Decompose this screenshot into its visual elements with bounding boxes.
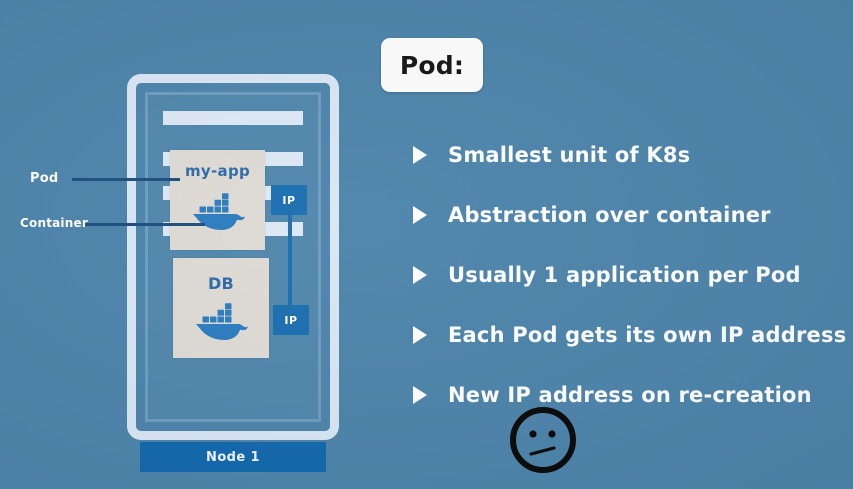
callout-label-pod: Pod [30, 171, 58, 186]
triangle-right-icon [413, 326, 427, 344]
triangle-right-icon [413, 266, 427, 284]
pod-title-box: Pod: [381, 38, 483, 92]
list-item-label: Abstraction over container [448, 203, 771, 227]
pod-outer-frame [127, 74, 339, 440]
triangle-right-icon [413, 146, 427, 164]
callout-label-container: Container [20, 216, 88, 230]
triangle-right-icon [413, 206, 427, 224]
list-item: Smallest unit of K8s [413, 125, 843, 185]
leader-line-container [83, 223, 205, 226]
list-item: New IP address on re-creation [413, 365, 843, 425]
list-item: Abstraction over container [413, 185, 843, 245]
list-item-label: Each Pod gets its own IP address [448, 323, 846, 347]
list-item: Each Pod gets its own IP address [413, 305, 843, 365]
leader-line-pod [72, 178, 180, 181]
list-item-label: Usually 1 application per Pod [448, 263, 801, 287]
list-item-label: Smallest unit of K8s [448, 143, 690, 167]
list-item-label: New IP address on re-creation [448, 383, 812, 407]
triangle-right-icon [413, 386, 427, 404]
confused-face-icon [508, 405, 578, 475]
bullet-list: Smallest unit of K8s Abstraction over co… [413, 125, 843, 425]
page-title: Pod: [400, 51, 464, 80]
slide-canvas: my-app DB [0, 0, 853, 489]
node-label-bar: Node 1 [140, 442, 326, 472]
list-item: Usually 1 application per Pod [413, 245, 843, 305]
